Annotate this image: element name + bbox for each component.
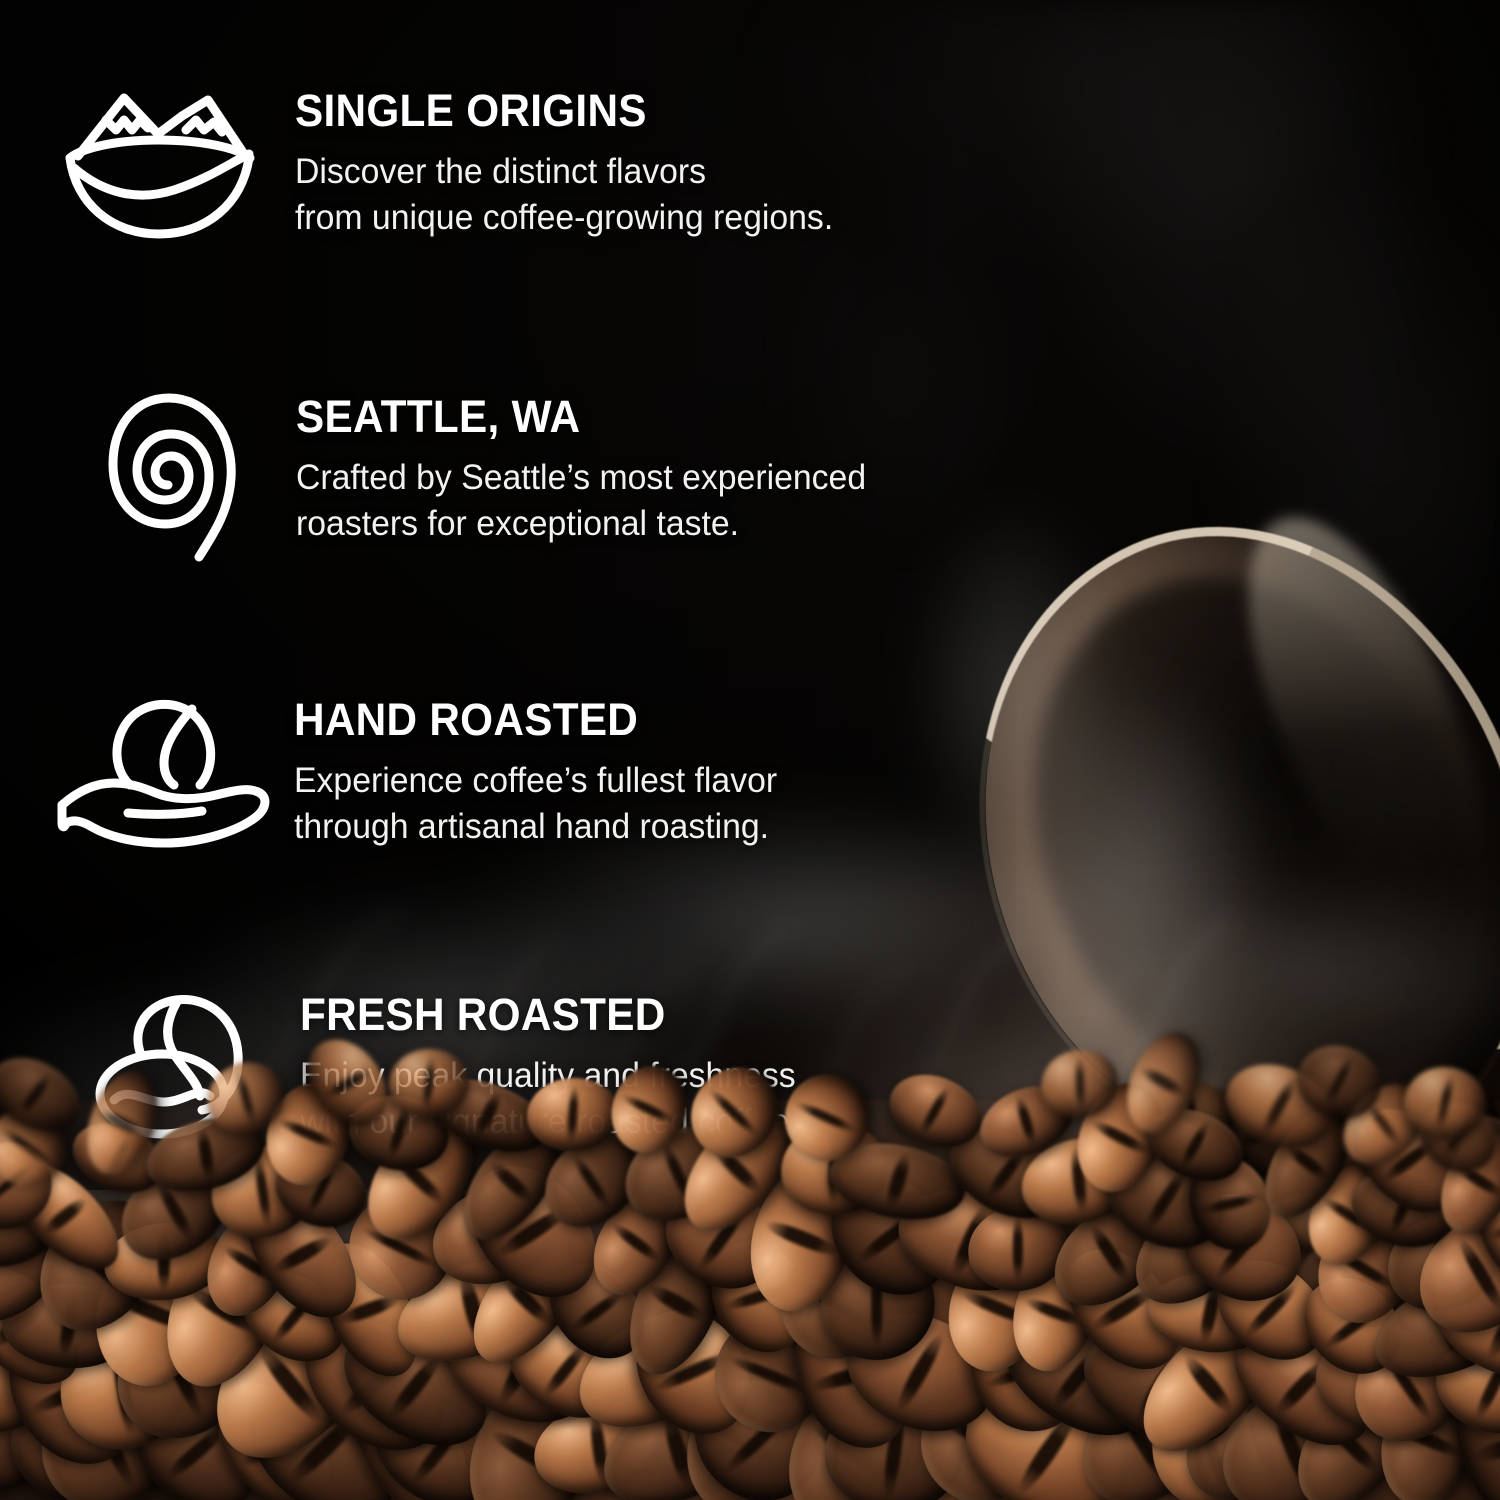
feature-body: Discover the distinct flavors from uniqu… [295, 149, 833, 240]
feature-title: SEATTLE, WA [296, 394, 851, 439]
feature-title: HAND ROASTED [294, 697, 765, 742]
feature-item-single-origins: SINGLE ORIGINS Discover the distinct fla… [62, 80, 853, 242]
feature-body-line: from unique coffee-growing regions. [295, 195, 833, 241]
feature-list: SINGLE ORIGINS Discover the distinct fla… [0, 0, 1080, 1200]
feature-copy: HAND ROASTED Experience coffee’s fullest… [294, 685, 795, 849]
feature-body-line: Discover the distinct flavors [295, 149, 833, 195]
feature-copy: SEATTLE, WA Crafted by Seattle’s most ex… [296, 380, 887, 546]
feature-title: SINGLE ORIGINS [295, 88, 819, 133]
feature-body: Experience coffee’s fullest flavor throu… [294, 758, 777, 849]
hand-holding-bean-icon [52, 693, 272, 848]
feature-item-hand-roasted: HAND ROASTED Experience coffee’s fullest… [52, 685, 795, 849]
feature-item-seattle-wa: SEATTLE, WA Crafted by Seattle’s most ex… [88, 380, 887, 562]
feature-body-line: roasters for exceptional taste. [296, 501, 866, 547]
feature-body-line: through artisanal hand roasting. [294, 804, 777, 850]
fingerprint-icon [88, 382, 258, 562]
feature-copy: SINGLE ORIGINS Discover the distinct fla… [295, 80, 853, 240]
feature-body: Crafted by Seattle’s most experienced ro… [296, 455, 866, 546]
product-feature-panel: SINGLE ORIGINS Discover the distinct fla… [0, 0, 1500, 1500]
mountain-bean-icon [62, 82, 257, 242]
feature-body-line: Experience coffee’s fullest flavor [294, 758, 777, 804]
feature-body-line: Crafted by Seattle’s most experienced [296, 455, 866, 501]
feature-title: FRESH ROASTED [300, 992, 786, 1037]
